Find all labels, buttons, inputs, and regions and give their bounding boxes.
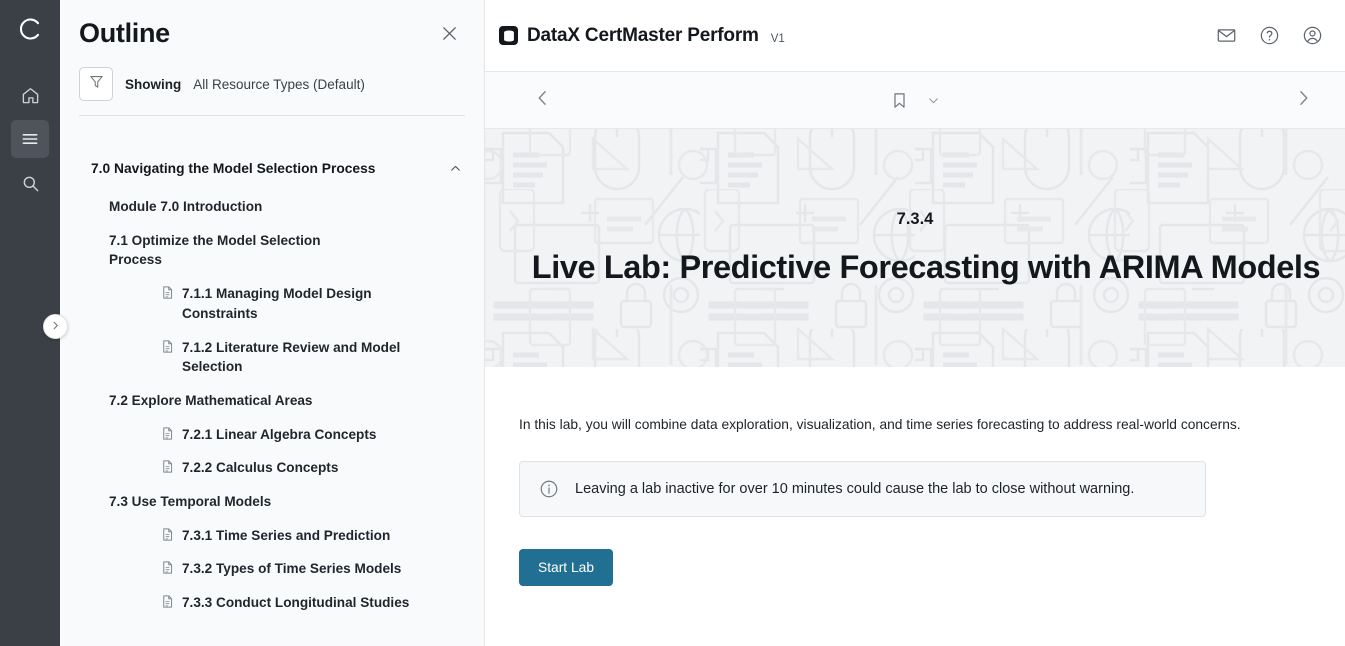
list-menu-icon	[20, 129, 40, 149]
lesson-navbar	[485, 72, 1345, 129]
document-icon	[159, 426, 176, 441]
chevron-right-icon	[50, 318, 61, 336]
filter-button[interactable]	[79, 67, 113, 101]
main-content: DataX CertMaster Perform V1	[485, 0, 1345, 646]
info-circle-icon	[539, 479, 559, 499]
close-outline-button[interactable]	[436, 23, 462, 49]
outline-item-label: 7.2.2 Calculus Concepts	[182, 458, 338, 478]
lab-notice-text: Leaving a lab inactive for over 10 minut…	[575, 481, 1134, 497]
outline-item[interactable]: 7.3 Use Temporal Models	[60, 485, 484, 519]
document-icon	[159, 339, 176, 354]
lab-intro-text: In this lab, you will combine data explo…	[519, 415, 1345, 436]
outline-panel: Outline Showing All Resource Types (Defa…	[60, 0, 485, 646]
filter-funnel-icon	[88, 73, 105, 95]
outline-item[interactable]: 7.3.2 Types of Time Series Models	[60, 552, 484, 586]
outline-item[interactable]: 7.2.1 Linear Algebra Concepts	[60, 418, 484, 452]
outline-item-label: 7.2 Explore Mathematical Areas	[109, 391, 313, 411]
outline-item-label: 7.1 Optimize the Model Selection Process	[109, 231, 364, 270]
lesson-number: 7.3.4	[897, 210, 934, 229]
chevron-down-icon[interactable]	[927, 94, 940, 107]
brand-name: DataX CertMaster Perform	[527, 25, 759, 47]
lesson-title: Live Lab: Predictive Forecasting with AR…	[532, 249, 1320, 286]
outline-scroll-region: 7.0 Navigating the Model Selection Proce…	[60, 148, 484, 646]
close-icon	[439, 23, 460, 49]
outline-item[interactable]: 7.2 Explore Mathematical Areas	[60, 384, 484, 418]
search-icon	[21, 174, 40, 193]
filter-row: Showing All Resource Types (Default)	[60, 59, 484, 101]
outline-item[interactable]: 7.3.1 Time Series and Prediction	[60, 519, 484, 553]
outline-item[interactable]: 7.1.2 Literature Review and Model Select…	[60, 331, 484, 384]
mail-icon[interactable]	[1216, 25, 1237, 46]
outline-header: Outline	[60, 0, 484, 59]
document-icon	[159, 560, 176, 575]
panel-collapse-toggle[interactable]	[43, 314, 68, 339]
page-title: Outline	[79, 18, 436, 49]
lab-notice: Leaving a lab inactive for over 10 minut…	[519, 461, 1206, 517]
user-account-icon[interactable]	[1302, 25, 1323, 46]
home-icon	[21, 86, 40, 105]
module-header[interactable]: 7.0 Navigating the Model Selection Proce…	[60, 148, 484, 190]
sidebar-item-home[interactable]	[11, 76, 49, 114]
filter-selected-value[interactable]: All Resource Types (Default)	[193, 77, 365, 92]
outline-item-label: 7.2.1 Linear Algebra Concepts	[182, 425, 376, 445]
navbar-center	[485, 91, 1345, 110]
document-icon	[159, 527, 176, 542]
lesson-body: In this lab, you will combine data explo…	[485, 367, 1345, 586]
app-topbar: DataX CertMaster Perform V1	[485, 0, 1345, 72]
outline-item[interactable]: Module 7.0 Introduction	[60, 190, 484, 224]
outline-item-label: 7.1.2 Literature Review and Model Select…	[182, 338, 437, 377]
outline-item-label: 7.3 Use Temporal Models	[109, 492, 271, 512]
filter-showing-label: Showing	[125, 77, 181, 92]
outline-item-label: 7.1.1 Managing Model Design Constraints	[182, 284, 437, 323]
outline-item[interactable]: 7.1.1 Managing Model Design Constraints	[60, 277, 484, 330]
document-icon	[159, 594, 176, 609]
outline-item-label: 7.3.3 Conduct Longitudinal Studies	[182, 593, 409, 613]
outline-item-label: 7.3.1 Time Series and Prediction	[182, 526, 390, 546]
outline-item[interactable]: 7.3.3 Conduct Longitudinal Studies	[60, 586, 484, 620]
sidebar-item-outline[interactable]	[11, 120, 49, 158]
outline-item[interactable]: 7.1 Optimize the Model Selection Process	[60, 224, 484, 277]
chevron-up-icon[interactable]	[449, 162, 462, 180]
outline-item-label: 7.3.2 Types of Time Series Models	[182, 559, 401, 579]
module-header-label: 7.0 Navigating the Model Selection Proce…	[91, 160, 449, 178]
document-icon	[159, 459, 176, 474]
brand: DataX CertMaster Perform V1	[499, 25, 1216, 47]
version-label: V1	[771, 33, 785, 47]
outline-item[interactable]: 7.2.2 Calculus Concepts	[60, 451, 484, 485]
next-page-button[interactable]	[1281, 78, 1325, 122]
rail-items	[0, 76, 60, 202]
start-lab-button[interactable]: Start Lab	[519, 549, 613, 586]
app-root: Outline Showing All Resource Types (Defa…	[0, 0, 1345, 646]
divider	[79, 115, 465, 116]
c-logo-icon[interactable]	[0, 0, 60, 58]
lesson-hero: 7.3.4 Live Lab: Predictive Forecasting w…	[485, 129, 1345, 367]
help-circle-icon[interactable]	[1259, 25, 1280, 46]
hero-content: 7.3.4 Live Lab: Predictive Forecasting w…	[485, 129, 1345, 367]
outline-tree: Module 7.0 Introduction7.1 Optimize the …	[60, 190, 484, 620]
bookmark-button[interactable]	[890, 91, 909, 110]
outline-scrollbar[interactable]	[475, 148, 483, 646]
left-nav-rail	[0, 0, 60, 646]
sidebar-item-search[interactable]	[11, 164, 49, 202]
datax-database-icon	[499, 26, 518, 45]
topbar-icons	[1216, 25, 1323, 46]
chevron-right-icon	[1293, 88, 1313, 113]
document-icon	[159, 285, 176, 300]
outline-item-label: Module 7.0 Introduction	[109, 197, 262, 217]
